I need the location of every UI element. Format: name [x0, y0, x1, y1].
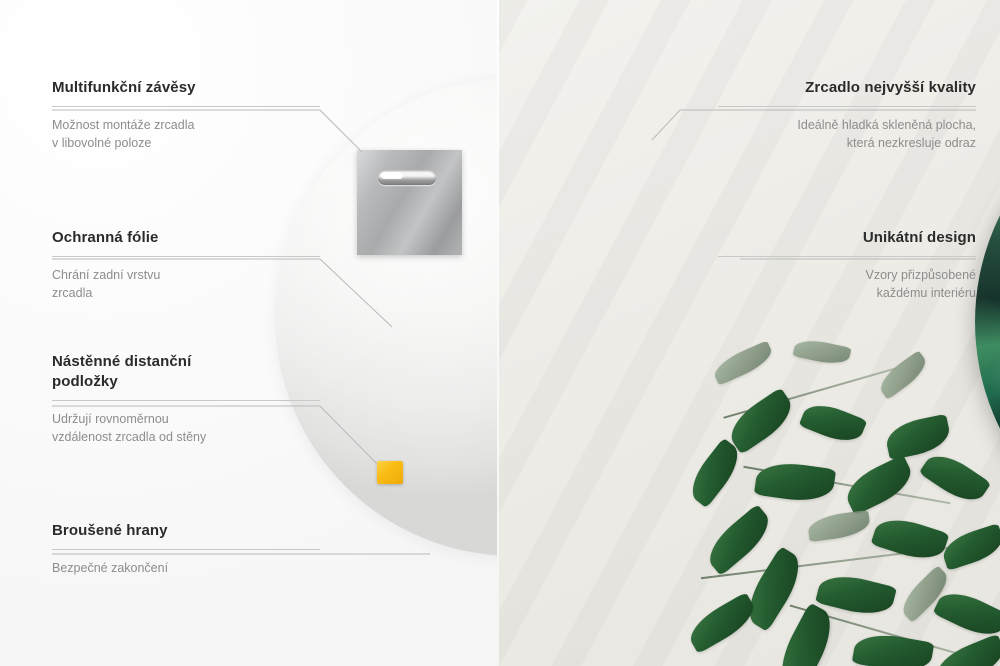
- metal-hanger-plate: [357, 150, 462, 255]
- hanger-slot-icon: [378, 170, 436, 185]
- callout-brousene-hrany: Broušené hrany Bezpečné zakončení: [52, 521, 320, 577]
- callout-title: Ochranná fólie: [52, 228, 320, 248]
- callout-description: Možnost montáže zrcadla v libovolné polo…: [52, 116, 320, 152]
- yellow-spacer-pad: [377, 461, 403, 484]
- callout-rule: [718, 256, 976, 257]
- callout-zrcadlo-nejvyssi-kvality: Zrcadlo nejvyšší kvality Ideálně hladká …: [718, 78, 976, 152]
- callout-title: Unikátní design: [718, 228, 976, 248]
- callout-title: Broušené hrany: [52, 521, 320, 541]
- callout-multifunkcni-zavesy: Multifunkční závěsy Možnost montáže zrca…: [52, 78, 320, 152]
- infographic-stage: Multifunkční závěsy Možnost montáže zrca…: [0, 0, 1000, 666]
- callout-description: Bezpečné zakončení: [52, 559, 320, 577]
- callout-title: Multifunkční závěsy: [52, 78, 320, 98]
- callout-description: Ideálně hladká skleněná plocha, která ne…: [718, 116, 976, 152]
- callout-ochranna-folie: Ochranná fólie Chrání zadní vrstvu zrcad…: [52, 228, 320, 302]
- callout-rule: [52, 256, 320, 257]
- callout-rule: [52, 549, 320, 550]
- green-foliage-branches: [690, 346, 1000, 666]
- callout-unikatni-design: Unikátní design Vzory přizpůsobené každé…: [718, 228, 976, 302]
- callout-description: Chrání zadní vrstvu zrcadla: [52, 266, 320, 302]
- callout-rule: [52, 400, 320, 401]
- callout-title: Zrcadlo nejvyšší kvality: [718, 78, 976, 98]
- callout-description: Vzory přizpůsobené každému interiéru: [718, 266, 976, 302]
- callout-description: Udržují rovnoměrnou vzdálenost zrcadla o…: [52, 410, 320, 446]
- callout-nastenne-distancni-podlozky: Nástěnné distanční podložky Udržují rovn…: [52, 352, 320, 446]
- callout-title: Nástěnné distanční podložky: [52, 352, 320, 392]
- callout-rule: [52, 106, 320, 107]
- callout-rule: [718, 106, 976, 107]
- panel-split-divider: [497, 0, 499, 666]
